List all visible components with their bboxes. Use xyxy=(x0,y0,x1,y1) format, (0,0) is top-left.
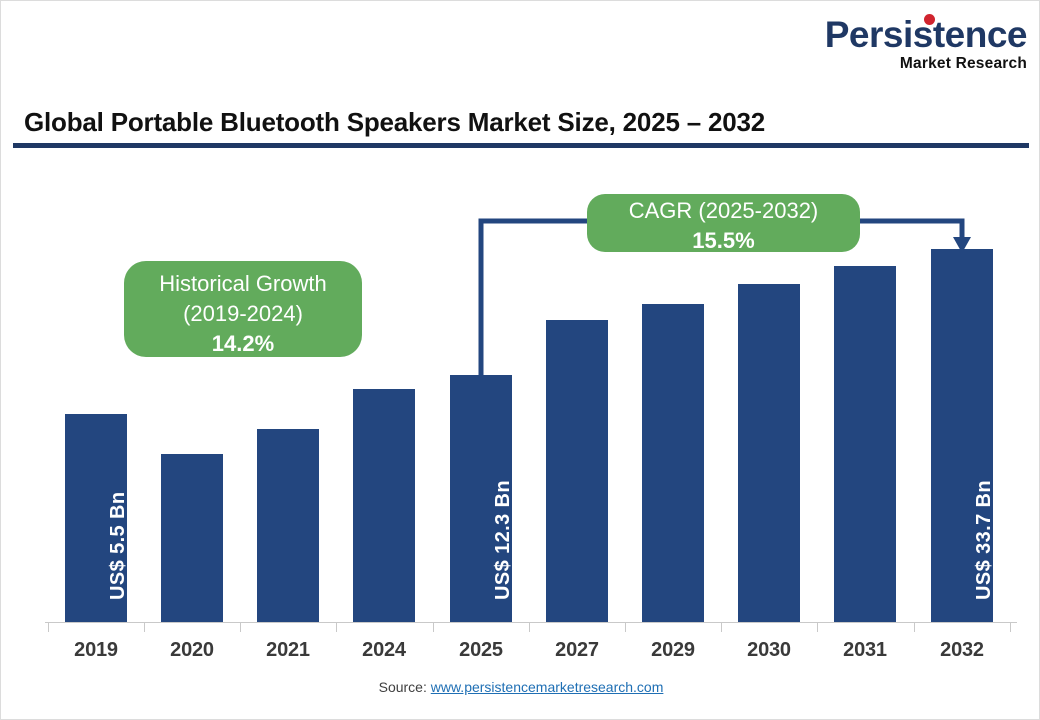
x-axis-tick xyxy=(817,622,818,632)
x-axis-label-2030: 2030 xyxy=(724,639,814,662)
bar-2020 xyxy=(161,454,223,622)
bar-2030 xyxy=(738,284,800,622)
bar-2029 xyxy=(642,304,704,622)
x-axis-label-2019: 2019 xyxy=(51,639,141,662)
source-link[interactable]: www.persistencemarketresearch.com xyxy=(431,679,664,695)
x-axis-tick xyxy=(625,622,626,632)
x-axis-tick xyxy=(144,622,145,632)
bar-2031 xyxy=(834,266,896,622)
x-axis-tick xyxy=(48,622,49,632)
cagr-callout: CAGR (2025-2032) 15.5% xyxy=(587,194,860,252)
cagr-value: 15.5% xyxy=(587,226,860,256)
bar-chart-plot-area: US$ 5.5 Bn2019202020212024US$ 12.3 Bn202… xyxy=(1,1,1040,720)
bar-value-label-2019: US$ 5.5 Bn xyxy=(107,492,130,600)
x-axis-tick xyxy=(1010,622,1011,632)
bar-2024 xyxy=(353,389,415,622)
x-axis-tick xyxy=(721,622,722,632)
source-footer: Source: www.persistencemarketresearch.co… xyxy=(1,679,1040,695)
x-axis-label-2027: 2027 xyxy=(532,639,622,662)
x-axis-line xyxy=(45,622,1017,623)
bar-2027 xyxy=(546,320,608,622)
historical-growth-line1: Historical Growth xyxy=(124,269,362,299)
x-axis-tick xyxy=(914,622,915,632)
x-axis-label-2020: 2020 xyxy=(147,639,237,662)
bar-value-label-2032: US$ 33.7 Bn xyxy=(973,480,996,600)
historical-growth-value: 14.2% xyxy=(124,329,362,359)
historical-growth-callout: Historical Growth (2019-2024) 14.2% xyxy=(124,261,362,357)
x-axis-label-2024: 2024 xyxy=(339,639,429,662)
source-prefix-label: Source: xyxy=(379,679,431,695)
bar-2021 xyxy=(257,429,319,622)
x-axis-label-2031: 2031 xyxy=(820,639,910,662)
x-axis-label-2029: 2029 xyxy=(628,639,718,662)
bar-value-label-2025: US$ 12.3 Bn xyxy=(492,480,515,600)
cagr-line1: CAGR (2025-2032) xyxy=(587,196,860,226)
x-axis-label-2021: 2021 xyxy=(243,639,333,662)
x-axis-tick xyxy=(529,622,530,632)
x-axis-label-2032: 2032 xyxy=(917,639,1007,662)
chart-canvas: Persistence Market Research Global Porta… xyxy=(0,0,1040,720)
x-axis-tick xyxy=(336,622,337,632)
historical-growth-line2: (2019-2024) xyxy=(124,299,362,329)
x-axis-tick xyxy=(433,622,434,632)
x-axis-label-2025: 2025 xyxy=(436,639,526,662)
x-axis-tick xyxy=(240,622,241,632)
